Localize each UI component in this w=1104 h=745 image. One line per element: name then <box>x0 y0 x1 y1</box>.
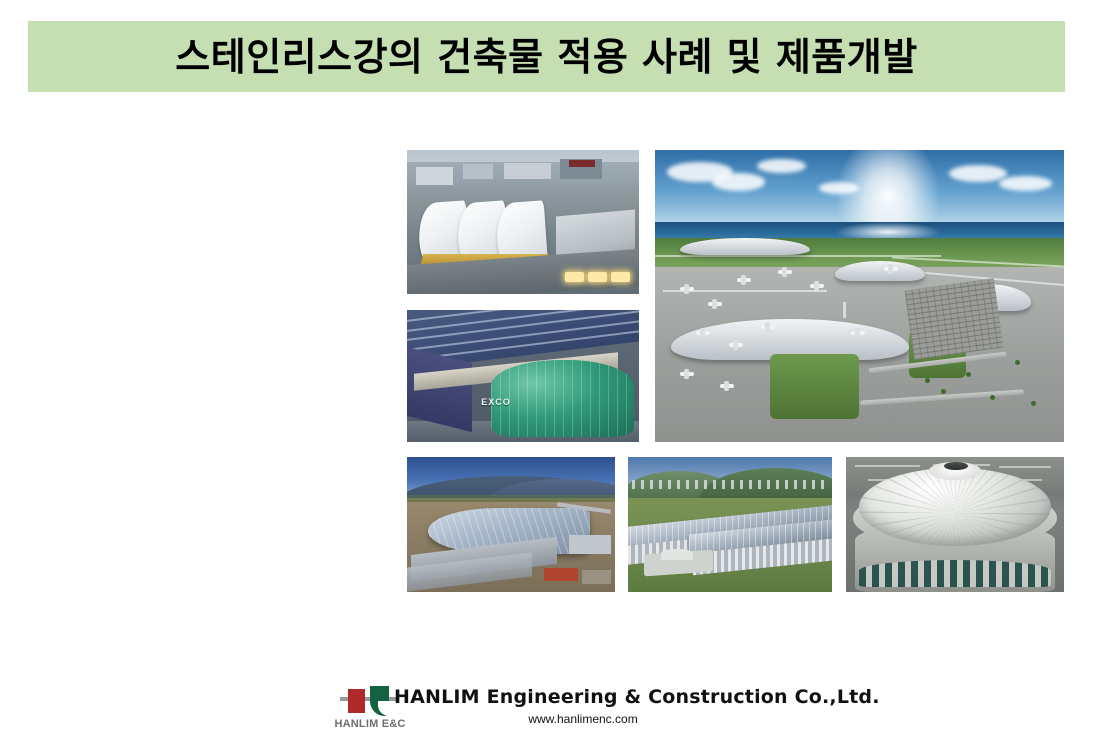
exco-sign-label: EXCO <box>481 397 511 407</box>
footer: HANLIM E&C HANLIM Engineering & Construc… <box>0 682 1104 745</box>
railway-station-photo-2 <box>628 457 832 592</box>
exco-building-photo: EXCO <box>407 310 639 442</box>
dome-scene <box>846 457 1064 592</box>
red-roof-building <box>544 568 577 582</box>
town-buildings <box>632 480 828 489</box>
title-banner: 스테인리스강의 건축물 적용 사례 및 제품개발 <box>28 21 1065 92</box>
slide: 스테인리스강의 건축물 적용 사례 및 제품개발 <box>0 0 1104 745</box>
company-website: www.hanlimenc.com <box>394 712 772 726</box>
entrance-lights <box>565 272 630 282</box>
convention-center-scene <box>407 150 639 294</box>
exco-scene: EXCO <box>407 310 639 442</box>
green-glass-facade <box>491 360 635 437</box>
airport-terminal-photo <box>655 150 1064 442</box>
footer-inner: HANLIM E&C HANLIM Engineering & Construc… <box>332 682 772 745</box>
station-scene-2 <box>628 457 832 592</box>
control-tower <box>843 302 846 318</box>
side-building <box>582 570 611 584</box>
arena-windows <box>859 560 1051 587</box>
company-name: HANLIM Engineering & Construction Co.,Lt… <box>394 686 880 708</box>
page-title: 스테인리스강의 건축물 적용 사례 및 제품개발 <box>175 38 917 76</box>
side-building <box>569 535 611 554</box>
railway-station-photo-1 <box>407 457 615 592</box>
convention-center-photo <box>407 150 639 294</box>
dome-arena-photo <box>846 457 1064 592</box>
building-block <box>416 167 453 184</box>
logo-red-square <box>348 689 365 713</box>
entrance-canopy <box>661 549 694 560</box>
building-block <box>463 164 493 178</box>
airport-scene <box>655 150 1064 442</box>
parking-lot <box>904 278 1003 360</box>
hanlim-logo-icon <box>340 686 398 716</box>
concourse <box>835 261 925 281</box>
signage-block <box>569 160 595 167</box>
building-block <box>504 163 550 179</box>
glass-mullions <box>491 360 635 437</box>
station-scene-1 <box>407 457 615 592</box>
